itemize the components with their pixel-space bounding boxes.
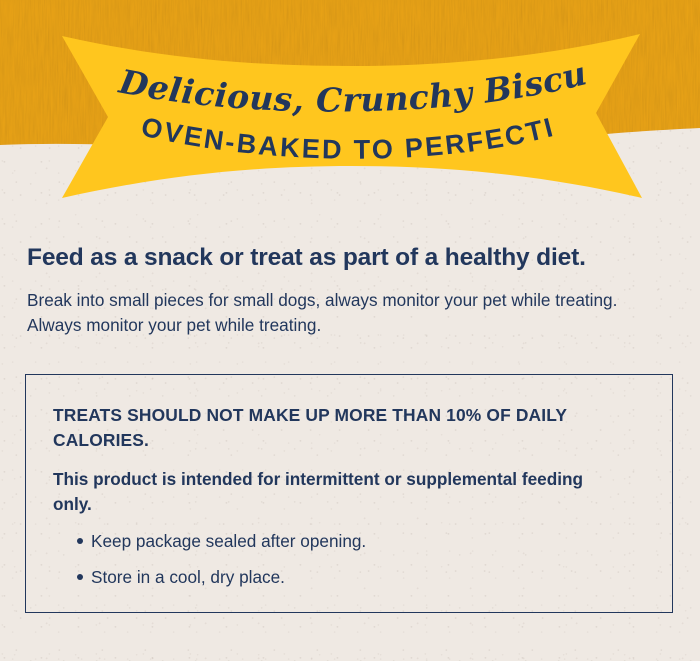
packaging-panel: Delicious, Crunchy Biscuits OVEN-BAKED T… <box>0 0 700 661</box>
list-item: Store in a cool, dry place. <box>77 566 642 588</box>
list-item: Keep package sealed after opening. <box>77 530 642 552</box>
callout-title: TREATS SHOULD NOT MAKE UP MORE THAN 10% … <box>53 403 613 453</box>
callout-content: TREATS SHOULD NOT MAKE UP MORE THAN 10% … <box>26 375 672 588</box>
feeding-subcopy: Break into small pieces for small dogs, … <box>27 288 627 337</box>
storage-instructions-list: Keep package sealed after opening. Store… <box>53 530 642 589</box>
bullet-dot-icon <box>77 538 83 544</box>
callout-subtitle: This product is intended for intermitten… <box>53 467 613 515</box>
feeding-callout-box: TREATS SHOULD NOT MAKE UP MORE THAN 10% … <box>25 374 673 613</box>
list-item-label: Store in a cool, dry place. <box>91 567 285 587</box>
ribbon-banner <box>0 0 700 230</box>
feeding-headline: Feed as a snack or treat as part of a he… <box>27 244 675 271</box>
bullet-dot-icon <box>77 574 83 580</box>
list-item-label: Keep package sealed after opening. <box>91 531 366 551</box>
body-copy: Feed as a snack or treat as part of a he… <box>27 244 675 337</box>
